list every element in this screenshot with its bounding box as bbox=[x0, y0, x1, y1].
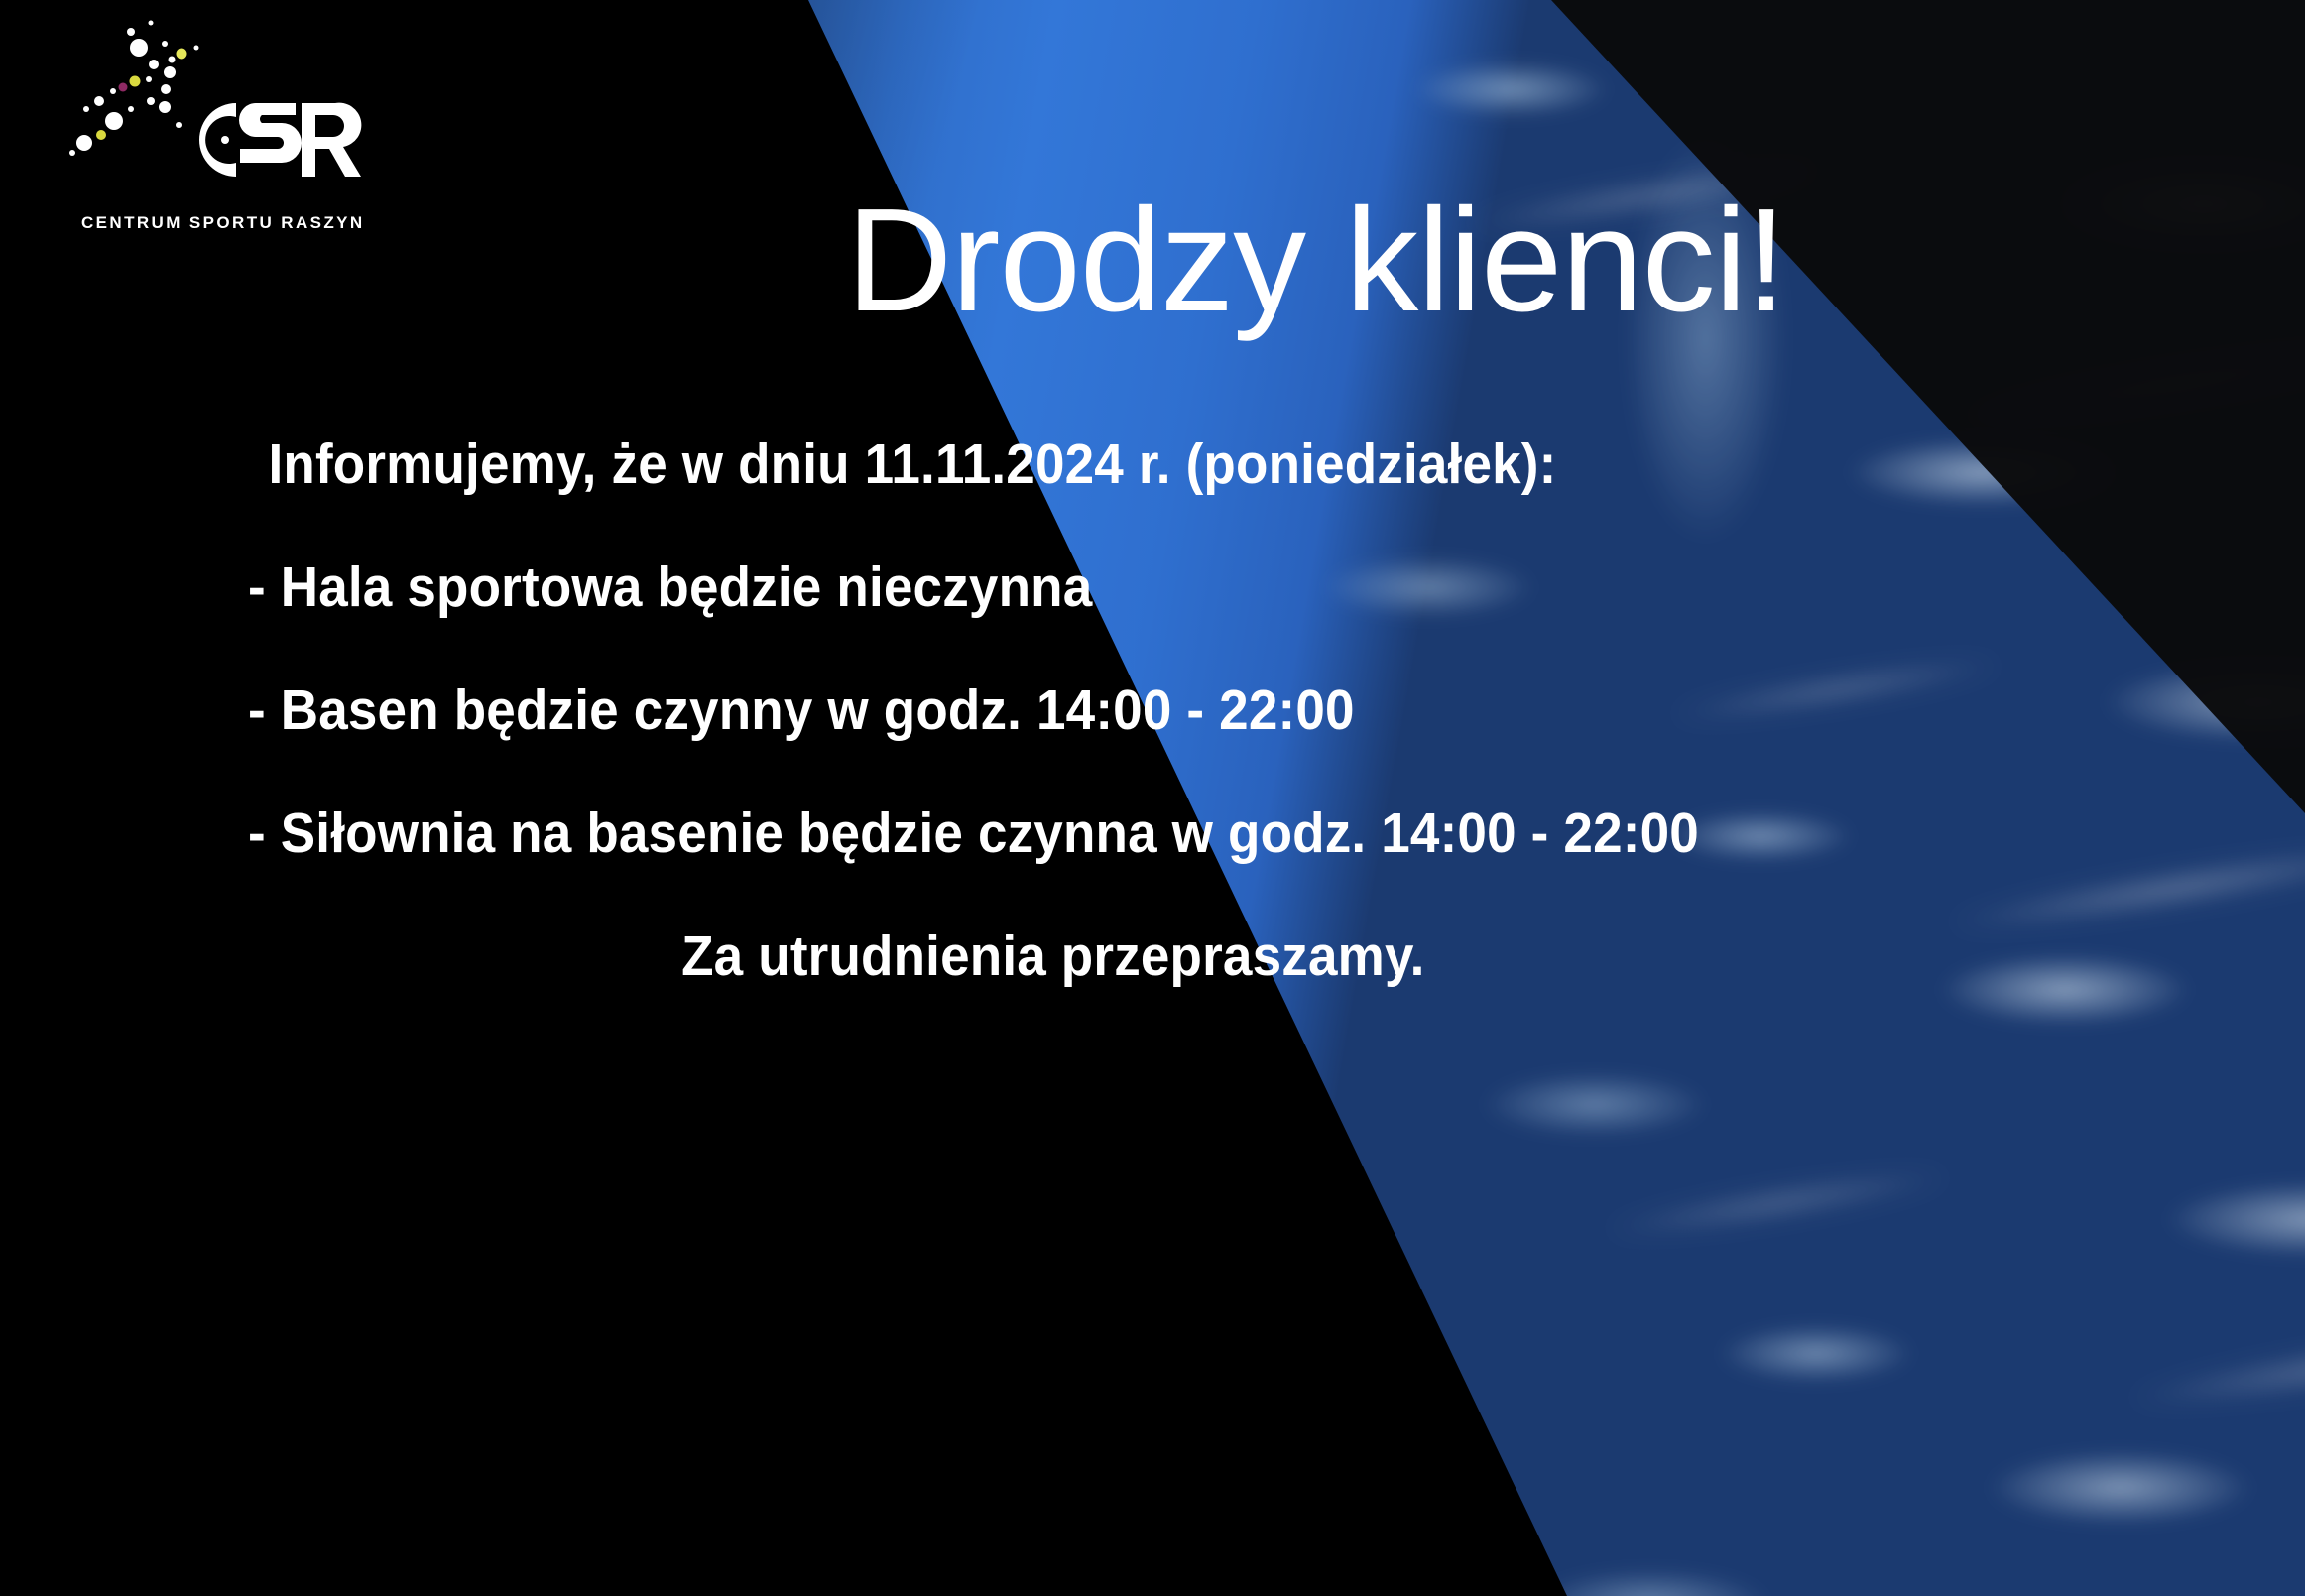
announcement-apology-line: Za utrudnienia przepraszamy. bbox=[248, 928, 2001, 985]
announcement-body: Informujemy, że w dniu 11.11.2024 r. (po… bbox=[248, 436, 2132, 985]
announcement-intro-line: Informujemy, że w dniu 11.11.2024 r. (po… bbox=[248, 436, 2001, 493]
announcement-item-3: - Siłownia na basenie będzie czynna w go… bbox=[248, 805, 2001, 862]
csr-monogram-icon bbox=[179, 87, 367, 191]
announcement-item-2: - Basen będzie czynny w godz. 14:00 - 22… bbox=[248, 682, 2001, 739]
announcement-item-1: - Hala sportowa będzie nieczynna bbox=[248, 559, 2001, 616]
announcement-poster: CENTRUM SPORTU RASZYN Drodzy klienci! In… bbox=[0, 0, 2305, 1596]
page-title: Drodzy klienci! bbox=[0, 184, 2305, 337]
